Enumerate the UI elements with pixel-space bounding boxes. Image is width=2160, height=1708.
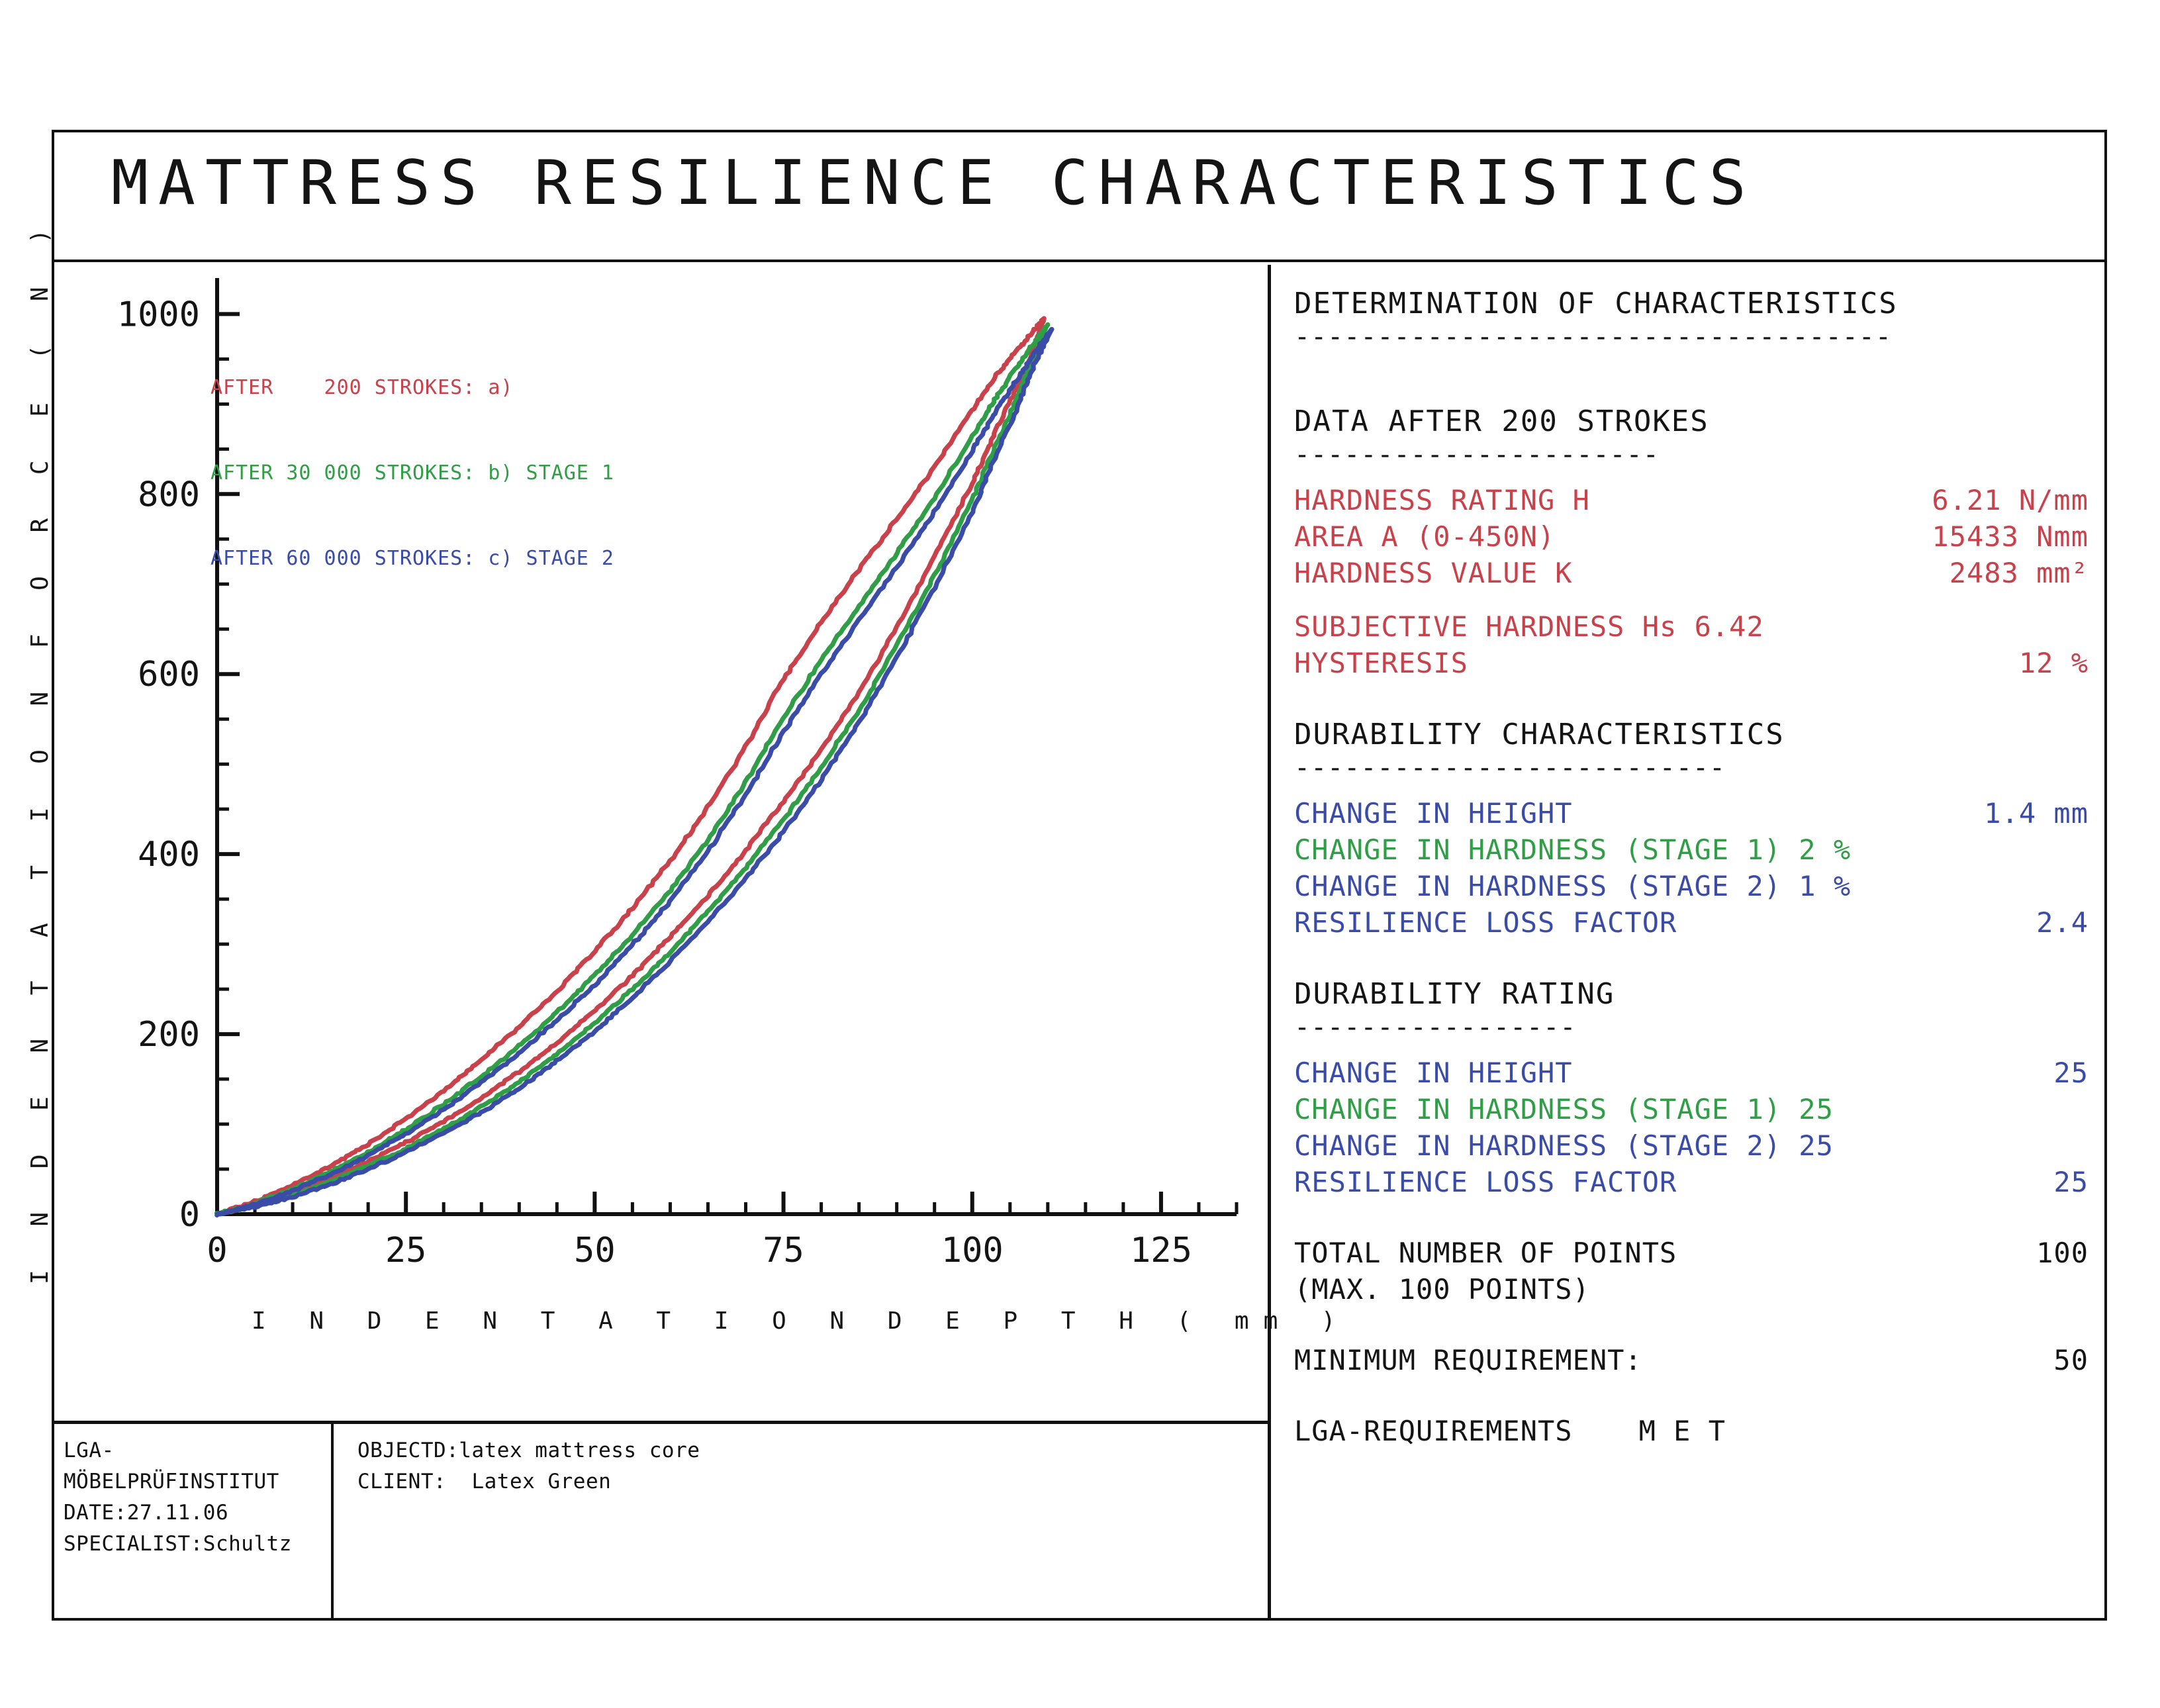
rating-change-in-hardness-stage2-line: CHANGE IN HARDNESS (STAGE 2) 25 [1294, 1127, 2089, 1164]
legend-item-c: AFTER 60 000 STROKES: c) STAGE 2 [211, 544, 614, 573]
minimum-requirement-label: MINIMUM REQUIREMENT: [1294, 1342, 1642, 1378]
rating-change-in-height-value: 25 [2053, 1055, 2089, 1091]
svg-text:75: 75 [763, 1231, 804, 1270]
determination-heading: DETERMINATION OF CHARACTERISTICS [1294, 285, 2089, 323]
svg-text:25: 25 [385, 1231, 427, 1270]
subjective-hardness-line: SUBJECTIVE HARDNESS Hs 6.42 [1294, 608, 2089, 645]
report-sheet: MATTRESS RESILIENCE CHARACTERISTICS I N … [0, 0, 2160, 1708]
table-row: TOTAL NUMBER OF POINTS 100 [1294, 1235, 2089, 1271]
svg-text:100: 100 [941, 1231, 1004, 1270]
title-bar: MATTRESS RESILIENCE CHARACTERISTICS [52, 130, 2107, 262]
svg-text:0: 0 [179, 1195, 200, 1235]
legend-item-b: AFTER 30 000 STROKES: b) STAGE 1 [211, 459, 614, 487]
table-row: HARDNESS VALUE K 2483 mm² [1294, 555, 2089, 591]
svg-text:125: 125 [1130, 1231, 1192, 1270]
minimum-requirement-value: 50 [2053, 1342, 2089, 1378]
svg-text:800: 800 [138, 475, 200, 514]
hardness-rating-value: 6.21 N/mm [1932, 482, 2089, 518]
table-row: HARDNESS RATING H 6.21 N/mm [1294, 482, 2089, 518]
lga-requirements-label: LGA-REQUIREMENTS [1294, 1415, 1573, 1447]
footer-top-rule [52, 1421, 1270, 1424]
change-in-hardness-stage1-line: CHANGE IN HARDNESS (STAGE 1) 2 % [1294, 831, 2089, 868]
area-a-value: 15433 Nmm [1932, 518, 2089, 555]
svg-text:1000: 1000 [117, 295, 200, 334]
durability-characteristics-heading: DURABILITY CHARACTERISTICS [1294, 716, 2089, 754]
area-a-label: AREA A (0-450N) [1294, 518, 1555, 555]
hardness-rating-label: HARDNESS RATING H [1294, 482, 1590, 518]
change-in-height-label: CHANGE IN HEIGHT [1294, 795, 1573, 831]
characteristics-panel: DETERMINATION OF CHARACTERISTICS -------… [1294, 285, 2089, 1449]
determination-rule: ------------------------------------ [1294, 327, 2089, 347]
rating-change-in-hardness-stage1-line: CHANGE IN HARDNESS (STAGE 1) 25 [1294, 1091, 2089, 1127]
durability-characteristics-rule: -------------------------- [1294, 758, 2089, 778]
change-in-hardness-stage2-line: CHANGE IN HARDNESS (STAGE 2) 1 % [1294, 868, 2089, 904]
total-points-value: 100 [2036, 1235, 2089, 1271]
laboratory-info: LGA- MÖBELPRÜFINSTITUT DATE:27.11.06 SPE… [64, 1435, 328, 1560]
table-row: MINIMUM REQUIREMENT: 50 [1294, 1342, 2089, 1378]
svg-text:400: 400 [138, 835, 200, 875]
lga-requirements-value: M E T [1639, 1415, 1726, 1447]
svg-text:200: 200 [138, 1015, 200, 1055]
durability-rating-heading: DURABILITY RATING [1294, 975, 2089, 1014]
panel-divider [1268, 265, 1271, 1618]
lga-requirements-row: LGA-REQUIREMENTSM E T [1294, 1413, 2089, 1449]
resilience-loss-factor-value: 2.4 [2036, 904, 2089, 941]
rating-resilience-loss-factor-value: 25 [2053, 1164, 2089, 1200]
table-row: CHANGE IN HEIGHT 25 [1294, 1055, 2089, 1091]
hardness-value-k-value: 2483 mm² [1949, 555, 2089, 591]
table-row: CHANGE IN HEIGHT 1.4 mm [1294, 795, 2089, 831]
svg-text:50: 50 [574, 1231, 616, 1270]
svg-text:0: 0 [207, 1231, 227, 1270]
table-row: AREA A (0-450N) 15433 Nmm [1294, 518, 2089, 555]
data200-heading: DATA AFTER 200 STROKES [1294, 403, 2089, 441]
page-title: MATTRESS RESILIENCE CHARACTERISTICS [111, 147, 1756, 218]
object-client-info: OBJECTD:latex mattress core CLIENT: Late… [357, 1435, 1251, 1497]
chart-legend: AFTER 200 STROKES: a) AFTER 30 000 STROK… [211, 316, 614, 630]
hardness-value-k-label: HARDNESS VALUE K [1294, 555, 1573, 591]
change-in-height-value: 1.4 mm [1984, 795, 2089, 831]
table-row: HYSTERESIS 12 % [1294, 645, 2089, 681]
hysteresis-value: 12 % [2019, 645, 2089, 681]
rating-change-in-height-label: CHANGE IN HEIGHT [1294, 1055, 1573, 1091]
rating-resilience-loss-factor-label: RESILIENCE LOSS FACTOR [1294, 1164, 1677, 1200]
legend-item-a: AFTER 200 STROKES: a) [211, 373, 614, 402]
data200-rule: ---------------------- [1294, 445, 2089, 465]
table-row: RESILIENCE LOSS FACTOR 2.4 [1294, 904, 2089, 941]
hysteresis-label: HYSTERESIS [1294, 645, 1468, 681]
max-points-note: (MAX. 100 POINTS) [1294, 1271, 2089, 1307]
total-points-label: TOTAL NUMBER OF POINTS [1294, 1235, 1677, 1271]
y-axis-title: I N D E N T A T I O N F O R C E ( N ) [26, 214, 54, 1284]
svg-text:600: 600 [138, 655, 200, 694]
resilience-loss-factor-label: RESILIENCE LOSS FACTOR [1294, 904, 1677, 941]
table-row: RESILIENCE LOSS FACTOR 25 [1294, 1164, 2089, 1200]
footer-divider [331, 1421, 334, 1621]
durability-rating-rule: ----------------- [1294, 1018, 2089, 1037]
